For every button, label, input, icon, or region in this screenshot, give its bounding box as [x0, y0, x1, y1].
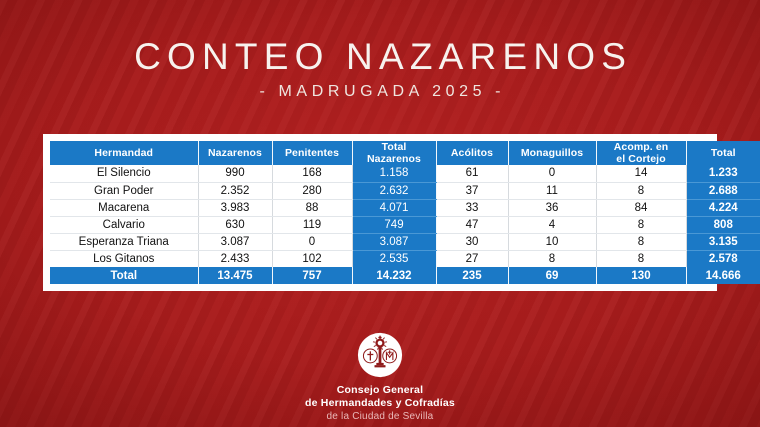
cell-acolitos: 37 [436, 182, 508, 199]
cell-monaguillos: 10 [508, 233, 596, 250]
total-acomp-cortejo: 130 [596, 267, 686, 284]
cell-total-nazarenos: 2.535 [352, 250, 436, 267]
footer-line-1: Consejo General [0, 384, 760, 397]
table-row[interactable]: Esperanza Triana 3.087 0 3.087 30 10 8 3… [50, 233, 760, 250]
col-header-nazarenos[interactable]: Nazarenos [198, 141, 272, 165]
slide-root: CONTEO NAZARENOS - MADRUGADA 2025 - Herm… [0, 0, 760, 427]
total-penitentes: 757 [272, 267, 352, 284]
table-totals-row: Total 13.475 757 14.232 235 69 130 14.66… [50, 267, 760, 284]
col-header-penitentes[interactable]: Penitentes [272, 141, 352, 165]
table-row[interactable]: Gran Poder 2.352 280 2.632 37 11 8 2.688 [50, 182, 760, 199]
table-header-row: Hermandad Nazarenos Penitentes Total Naz… [50, 141, 760, 165]
col-header-total-nazarenos-line1: Total [382, 141, 407, 153]
cell-acomp-cortejo: 84 [596, 199, 686, 216]
cell-monaguillos: 36 [508, 199, 596, 216]
cell-nazarenos: 3.983 [198, 199, 272, 216]
cell-acomp-cortejo: 8 [596, 250, 686, 267]
table-row[interactable]: Los Gitanos 2.433 102 2.535 27 8 8 2.578 [50, 250, 760, 267]
table-body: El Silencio 990 168 1.158 61 0 14 1.233 … [50, 165, 760, 267]
page-title: CONTEO NAZARENOS [0, 36, 760, 78]
cell-acolitos: 30 [436, 233, 508, 250]
footer-line-3: de la Ciudad de Sevilla [0, 410, 760, 423]
cell-total: 808 [686, 216, 760, 233]
cell-acomp-cortejo: 8 [596, 233, 686, 250]
cell-monaguillos: 0 [508, 165, 596, 182]
footer-brand: Consejo General de Hermandades y Cofradí… [0, 332, 760, 423]
col-header-acomp-cortejo-line2: el Cortejo [616, 153, 665, 165]
cell-penitentes: 119 [272, 216, 352, 233]
table-row[interactable]: Calvario 630 119 749 47 4 8 808 [50, 216, 760, 233]
total-nazarenos: 13.475 [198, 267, 272, 284]
table-row[interactable]: Macarena 3.983 88 4.071 33 36 84 4.224 [50, 199, 760, 216]
total-monaguillos: 69 [508, 267, 596, 284]
col-header-total-nazarenos[interactable]: Total Nazarenos [352, 141, 436, 165]
cell-hermandad: Esperanza Triana [50, 233, 198, 250]
col-header-acomp-cortejo[interactable]: Acomp. en el Cortejo [596, 141, 686, 165]
title-block: CONTEO NAZARENOS - MADRUGADA 2025 - [0, 36, 760, 101]
cell-total: 1.233 [686, 165, 760, 182]
cell-hermandad: Los Gitanos [50, 250, 198, 267]
cell-hermandad: Macarena [50, 199, 198, 216]
cell-penitentes: 168 [272, 165, 352, 182]
cell-hermandad: El Silencio [50, 165, 198, 182]
cell-nazarenos: 3.087 [198, 233, 272, 250]
footer-line-2: de Hermandades y Cofradías [0, 397, 760, 410]
col-header-total[interactable]: Total [686, 141, 760, 165]
cell-total: 2.578 [686, 250, 760, 267]
cell-total-nazarenos: 4.071 [352, 199, 436, 216]
cell-total: 4.224 [686, 199, 760, 216]
page-subtitle: - MADRUGADA 2025 - [0, 83, 760, 101]
table-footer: Total 13.475 757 14.232 235 69 130 14.66… [50, 267, 760, 284]
table-frame: Hermandad Nazarenos Penitentes Total Naz… [43, 134, 717, 291]
cell-monaguillos: 8 [508, 250, 596, 267]
cell-acomp-cortejo: 8 [596, 216, 686, 233]
table-row[interactable]: El Silencio 990 168 1.158 61 0 14 1.233 [50, 165, 760, 182]
cell-acomp-cortejo: 14 [596, 165, 686, 182]
col-header-acomp-cortejo-line1: Acomp. en [614, 141, 669, 153]
cell-total-nazarenos: 3.087 [352, 233, 436, 250]
cell-monaguillos: 4 [508, 216, 596, 233]
cell-hermandad: Calvario [50, 216, 198, 233]
cell-acolitos: 47 [436, 216, 508, 233]
cell-penitentes: 88 [272, 199, 352, 216]
cell-acomp-cortejo: 8 [596, 182, 686, 199]
cell-nazarenos: 2.352 [198, 182, 272, 199]
cell-nazarenos: 630 [198, 216, 272, 233]
cell-penitentes: 0 [272, 233, 352, 250]
col-header-acolitos[interactable]: Acólitos [436, 141, 508, 165]
total-grand: 14.666 [686, 267, 760, 284]
cell-penitentes: 102 [272, 250, 352, 267]
conteo-nazarenos-table: Hermandad Nazarenos Penitentes Total Naz… [50, 141, 760, 284]
cell-acolitos: 61 [436, 165, 508, 182]
col-header-monaguillos[interactable]: Monaguillos [508, 141, 596, 165]
cell-monaguillos: 11 [508, 182, 596, 199]
consejo-general-emblem-icon [357, 332, 403, 378]
cell-penitentes: 280 [272, 182, 352, 199]
cell-nazarenos: 990 [198, 165, 272, 182]
total-label: Total [50, 267, 198, 284]
cell-acolitos: 27 [436, 250, 508, 267]
cell-total: 3.135 [686, 233, 760, 250]
cell-total: 2.688 [686, 182, 760, 199]
cell-total-nazarenos: 749 [352, 216, 436, 233]
cell-acolitos: 33 [436, 199, 508, 216]
col-header-total-nazarenos-line2: Nazarenos [367, 153, 421, 165]
total-total-nazarenos: 14.232 [352, 267, 436, 284]
cell-nazarenos: 2.433 [198, 250, 272, 267]
cell-total-nazarenos: 1.158 [352, 165, 436, 182]
table-header: Hermandad Nazarenos Penitentes Total Naz… [50, 141, 760, 165]
cell-hermandad: Gran Poder [50, 182, 198, 199]
col-header-hermandad[interactable]: Hermandad [50, 141, 198, 165]
cell-total-nazarenos: 2.632 [352, 182, 436, 199]
total-acolitos: 235 [436, 267, 508, 284]
